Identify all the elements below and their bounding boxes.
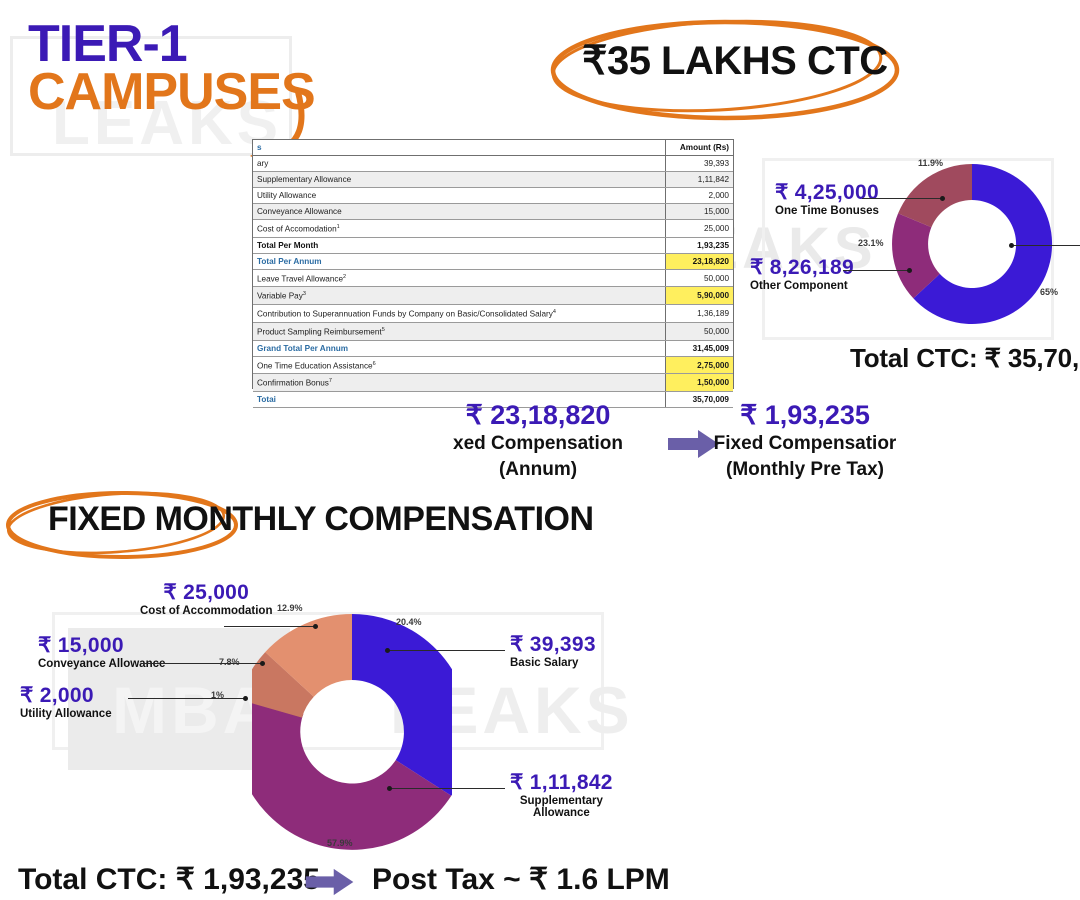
table-cell-amount: 1,93,235 (665, 237, 733, 253)
fmc-callout-amount: ₹ 15,000 (38, 633, 165, 658)
fmc-leader-line-conveyance (143, 663, 263, 664)
table-cell-amount: 23,18,820 (665, 253, 733, 269)
transition-left-caption-2: (Annum) (418, 457, 658, 483)
table-row: One Time Education Assistance62,75,000 (253, 356, 733, 374)
table-cell-amount: 15,000 (665, 204, 733, 220)
fmc-leader-dot-conveyance (260, 661, 265, 666)
table-cell-amount: 50,000 (665, 269, 733, 287)
table-header-row: sAmount (Rs) (253, 140, 733, 156)
fmc-pct-12-9: 12.9% (277, 603, 303, 613)
table-cell-label: Cost of Accomodation1 (253, 220, 665, 238)
transition-right-caption-1: Fixed Compensatior (690, 431, 920, 457)
fmc-pct-57-9: 57.9% (327, 838, 353, 848)
ctc-leader-dot-1 (940, 196, 945, 201)
fmc-leader-dot-cost (313, 624, 318, 629)
fmc-callout-name: Cost of Accommodation (140, 605, 272, 617)
table-row: Utility Allowance2,000 (253, 188, 733, 204)
ctc-pct-11-9: 11.9% (918, 158, 943, 168)
fmc-callout-utility: ₹ 2,000 Utility Allowance (20, 683, 112, 720)
transition-left-caption-1: xed Compensation (418, 431, 658, 457)
table-row: Contribution to Superannuation Funds by … (253, 305, 733, 323)
table-row: Total Per Month1,93,235 (253, 237, 733, 253)
fmc-callout-name: Utility Allowance (20, 708, 112, 720)
transition-right-amount: ₹ 1,93,235 (690, 400, 920, 431)
table-cell-label: Conveyance Allowance (253, 204, 665, 220)
table-cell-amount: 39,393 (665, 156, 733, 172)
section-title-fixed-monthly: FIXED MONTHLY COMPENSATION (48, 500, 594, 539)
ctc-callout-name: One Time Bonuses (775, 205, 879, 217)
ctc-callout-other-component: ₹ 8,26,189 Other Component (750, 255, 854, 292)
table-header-label: s (253, 140, 665, 156)
table-row: Leave Travel Allowance250,000 (253, 269, 733, 287)
transition-right-caption-2: (Monthly Pre Tax) (690, 457, 920, 483)
ctc-total-label: Total CTC: ₹ 35,70,009 (850, 343, 1080, 374)
table-cell-label: One Time Education Assistance6 (253, 356, 665, 374)
table-cell-amount: 2,75,000 (665, 356, 733, 374)
salary-table: sAmount (Rs)ary39,393Supplementary Allow… (252, 139, 734, 389)
fmc-leader-line-utility (128, 698, 246, 699)
fmc-leader-dot-utility (243, 696, 248, 701)
fmc-leader-line-basic (388, 650, 505, 651)
fmc-callout-basic-salary: ₹ 39,393 Basic Salary (510, 632, 596, 669)
ctc-leader-line-3 (1012, 245, 1080, 246)
table-cell-label: Total Per Month (253, 237, 665, 253)
table-row: Variable Pay35,90,000 (253, 287, 733, 305)
transition-left-amount: ₹ 23,18,820 (418, 400, 658, 431)
table-cell-amount: 50,000 (665, 322, 733, 340)
table-cell-label: Contribution to Superannuation Funds by … (253, 305, 665, 323)
fmc-leader-line-supplementary (390, 788, 505, 789)
ctc-pct-23-1: 23.1% (858, 238, 884, 248)
table-cell-amount: 2,000 (665, 188, 733, 204)
fmc-callout-name: SupplementaryAllowance (510, 795, 613, 819)
ctc-leader-dot-3 (1009, 243, 1014, 248)
ctc-callout-amount: ₹ 8,26,189 (750, 255, 854, 280)
fmc-callout-name: Basic Salary (510, 657, 596, 669)
infographic-page: LEAKS MBA LEAKS MBA LEAKS TIER-1 CAMPUSE… (0, 0, 1080, 900)
fmc-leader-dot-basic (385, 648, 390, 653)
table-cell-label: Variable Pay3 (253, 287, 665, 305)
table-cell-amount: 31,45,009 (665, 340, 733, 356)
footer-arrow-icon (305, 868, 355, 896)
fmc-callout-conveyance: ₹ 15,000 Conveyance Allowance (38, 633, 165, 670)
table-cell-label: Total Per Annum (253, 253, 665, 269)
footer-total-ctc: Total CTC: ₹ 1,93,235 (18, 862, 320, 897)
table-cell-label: Grand Total Per Annum (253, 340, 665, 356)
table-row: Total Per Annum23,18,820 (253, 253, 733, 269)
fmc-leader-dot-supplementary (387, 786, 392, 791)
ctc-leader-line-1 (862, 198, 942, 199)
transition-right: ₹ 1,93,235 Fixed Compensatior (Monthly P… (690, 400, 920, 483)
fmc-pct-20-4: 20.4% (396, 617, 422, 627)
table-cell-label: Leave Travel Allowance2 (253, 269, 665, 287)
table-cell-amount: 25,000 (665, 220, 733, 238)
table-cell-label: Product Sampling Reimbursement5 (253, 322, 665, 340)
table-row: Cost of Accomodation125,000 (253, 220, 733, 238)
table-cell-label: ary (253, 156, 665, 172)
fmc-callout-amount: ₹ 25,000 (140, 580, 272, 605)
ctc-leader-line-2 (843, 270, 910, 271)
table-header-amount: Amount (Rs) (665, 140, 733, 156)
table-cell-label: Confirmation Bonus7 (253, 374, 665, 392)
table-row: Product Sampling Reimbursement550,000 (253, 322, 733, 340)
table-cell-amount: 1,50,000 (665, 374, 733, 392)
fixed-monthly-donut-chart (252, 612, 452, 852)
fmc-pct-7-8: 7.8% (219, 657, 240, 667)
ctc-donut-chart (888, 160, 1056, 328)
fmc-callout-amount: ₹ 1,11,842 (510, 770, 613, 795)
fmc-callout-name: Conveyance Allowance (38, 658, 165, 670)
table-cell-amount: 1,11,842 (665, 172, 733, 188)
ctc-callout-amount: ₹ 4,25,000 (775, 180, 879, 205)
fmc-callout-supplementary: ₹ 1,11,842 SupplementaryAllowance (510, 770, 613, 819)
table-row: Supplementary Allowance1,11,842 (253, 172, 733, 188)
ctc-pct-65: 65% (1040, 287, 1058, 297)
table-cell-label: Utility Allowance (253, 188, 665, 204)
table-row: ary39,393 (253, 156, 733, 172)
table-cell-amount: 1,36,189 (665, 305, 733, 323)
ctc-callout-name: Other Component (750, 280, 854, 292)
fmc-leader-line-cost (224, 626, 316, 627)
table-row: Grand Total Per Annum31,45,009 (253, 340, 733, 356)
ctc-leader-dot-2 (907, 268, 912, 273)
fmc-callout-amount: ₹ 2,000 (20, 683, 112, 708)
table-row: Confirmation Bonus71,50,000 (253, 374, 733, 392)
table-cell-label: Supplementary Allowance (253, 172, 665, 188)
watermark-mba-bottom: MBA (112, 672, 274, 748)
fmc-callout-cost-accommodation: ₹ 25,000 Cost of Accommodation (140, 580, 272, 617)
fmc-callout-amount: ₹ 39,393 (510, 632, 596, 657)
table-cell-amount: 5,90,000 (665, 287, 733, 305)
footer-post-tax: Post Tax ~ ₹ 1.6 LPM (372, 862, 670, 897)
table-row: Conveyance Allowance15,000 (253, 204, 733, 220)
headline-ctc: ₹35 LAKHS CTC (582, 38, 888, 84)
transition-left: ₹ 23,18,820 xed Compensation (Annum) (418, 400, 658, 483)
